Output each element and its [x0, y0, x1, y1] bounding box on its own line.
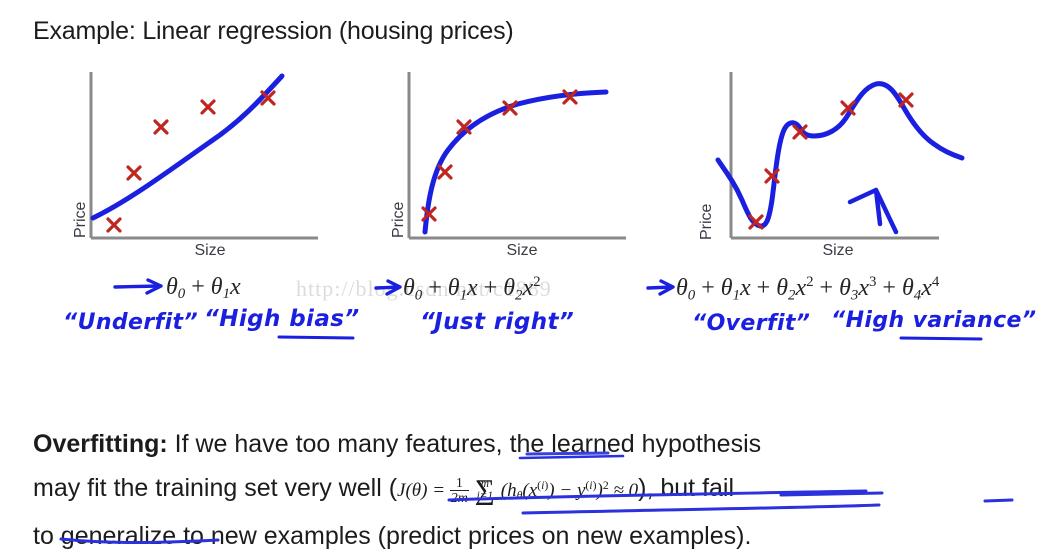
overfit-chart-x-axis-label: Size: [778, 242, 898, 260]
overfit-chart-data-points: [750, 94, 912, 228]
ink-arrow-overfit-icon: [648, 281, 673, 294]
high-variance-annotation: “High variance”: [831, 308, 1036, 333]
ink-underline-high-bias: [279, 337, 353, 338]
data-point: [128, 167, 140, 179]
data-point: [108, 219, 120, 231]
ink-arrow-underfit-icon: [115, 280, 161, 293]
data-point: [202, 101, 214, 113]
underfit-annotation: “Underfit”: [63, 310, 198, 335]
underfit-chart-plot: [60, 60, 345, 260]
just-right-chart-y-axis-label: Price: [390, 202, 408, 238]
body-line2-post: ), but fail: [638, 474, 734, 502]
high-bias-annotation: “High bias”: [204, 306, 360, 332]
overfit-chart-plot: [690, 60, 1020, 260]
underfit-formula: θ0 + θ1x: [166, 274, 241, 303]
overfit-chart-pointer-arrow-icon: [850, 190, 896, 232]
just-right-chart-plot: [378, 60, 663, 260]
underfit-chart-y-axis-label: Price: [72, 202, 90, 238]
body-line1-rest: If we have too many features, the learne…: [168, 430, 761, 458]
underfit-chart-hypothesis-line: [93, 76, 282, 218]
overfit-annotation: “Overfit”: [692, 311, 810, 336]
body-lead-label: Overfitting:: [33, 430, 168, 458]
body-line2-pre: may fit the training set very well (: [33, 474, 397, 502]
page-title: Example: Linear regression (housing pric…: [33, 17, 514, 46]
just-right-annotation: “Just right”: [420, 309, 574, 335]
just-right-chart: Price Size: [378, 60, 663, 260]
underfit-chart: Price Size: [60, 60, 345, 260]
data-point: [155, 121, 167, 133]
overfit-formula: θ0 + θ1x + θ2x2 + θ3x3 + θ4x4: [676, 274, 939, 304]
overfit-chart: Price Size: [690, 60, 1020, 260]
body-paragraph: Overfitting: If we have too many feature…: [33, 424, 1033, 554]
just-right-chart-x-axis-label: Size: [462, 242, 582, 260]
ink-underline-high-variance: [901, 338, 981, 339]
overfit-chart-y-axis-label: Price: [698, 204, 716, 240]
underfit-chart-x-axis-label: Size: [150, 242, 270, 260]
data-point: [439, 166, 451, 178]
body-line3: to generalize to new examples (predict p…: [33, 522, 751, 550]
just-right-formula: θ0 + θ1x + θ2x2: [403, 274, 541, 304]
cost-function-formula: J(θ) = 12m ∑mi=1 (hθ(x(i)) − y(i))2 ≈ 0: [397, 480, 638, 501]
overfit-chart-hypothesis-line: [718, 84, 962, 227]
slide-canvas: Example: Linear regression (housing pric…: [0, 0, 1058, 554]
